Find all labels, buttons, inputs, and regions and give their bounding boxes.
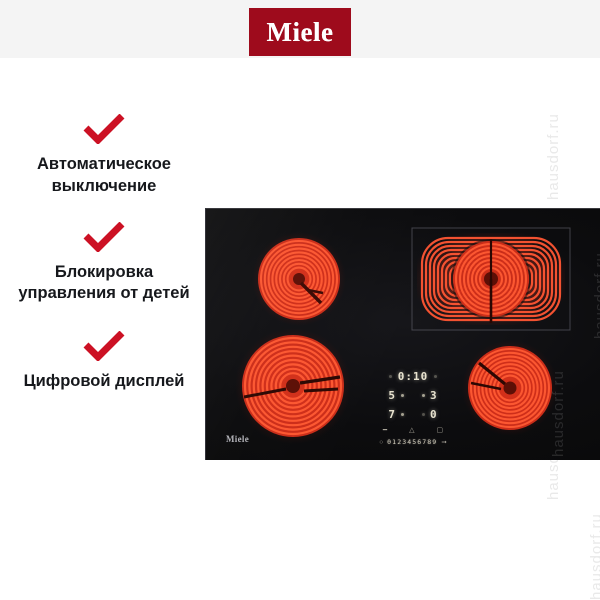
timer-right-indicator-dot <box>434 375 437 378</box>
feature-item: Цифровой дисплей <box>0 329 208 393</box>
control-panel[interactable]: 0:10 5 3 7 0 <box>358 369 468 447</box>
level-value: 5 <box>388 389 396 402</box>
level-value: 0 <box>430 408 438 421</box>
minus-icon[interactable]: ━ <box>383 427 387 434</box>
timer-left-indicator-dot <box>389 375 392 378</box>
cooktop-appliance: 0:10 5 3 7 0 <box>205 208 600 460</box>
level-indicator-dot <box>401 413 404 416</box>
cooktop-brand-label: Miele <box>226 434 249 444</box>
level-value: 7 <box>388 408 396 421</box>
watermark-3: hausdorf.ru <box>545 113 562 200</box>
zone-level-right-1[interactable]: 3 <box>422 389 438 402</box>
watermark-2: hausdorf.ru <box>588 513 600 600</box>
feature-label: Блокировка управления от детей <box>0 262 208 306</box>
check-icon <box>0 220 208 254</box>
miele-logo: Miele <box>249 8 351 56</box>
miele-logo-text: Miele <box>267 19 334 46</box>
check-icon <box>0 112 208 146</box>
level-row-2: 7 0 <box>358 407 468 422</box>
front-left-zone[interactable] <box>234 327 352 445</box>
level-row-1: 5 3 <box>358 388 468 403</box>
rear-right-extendable-zone[interactable] <box>411 227 571 331</box>
panel-icon-row: ━ △ ▢ <box>358 425 468 436</box>
booster-icon[interactable]: ➞ <box>441 438 446 446</box>
timer-row: 0:10 <box>358 369 468 384</box>
front-right-zone[interactable] <box>461 339 559 437</box>
timer-display: 0:10 <box>398 370 429 383</box>
feature-item: Автоматическое выключение <box>0 112 208 198</box>
watermark-glass-1: hausdorf.ru <box>592 252 600 339</box>
product-feature-card: Miele hausdorf.ru hausdorf.ru hausdorf.r… <box>0 0 600 600</box>
level-indicator-dot <box>401 394 404 397</box>
lock-icon[interactable]: △ <box>409 427 414 434</box>
zone-level-left-1[interactable]: 5 <box>388 389 404 402</box>
feature-label: Цифровой дисплей <box>0 371 208 393</box>
power-slider[interactable]: ○ 0123456789 ➞ <box>358 436 468 448</box>
feature-item: Блокировка управления от детей <box>0 220 208 306</box>
power-icon[interactable]: ○ <box>379 439 383 446</box>
level-value: 3 <box>430 389 438 402</box>
feature-label: Автоматическое выключение <box>0 154 208 198</box>
zone-level-right-2[interactable]: 0 <box>422 408 438 421</box>
slider-digits[interactable]: 0123456789 <box>387 438 437 446</box>
level-indicator-dot <box>422 394 425 397</box>
feature-list: Автоматическое выключение Блокировка упр… <box>0 112 208 413</box>
keep-warm-icon[interactable]: ▢ <box>436 427 443 434</box>
check-icon <box>0 329 208 363</box>
zone-level-left-2[interactable]: 7 <box>388 408 404 421</box>
level-indicator-dot <box>422 413 425 416</box>
rear-left-zone[interactable] <box>251 231 347 327</box>
